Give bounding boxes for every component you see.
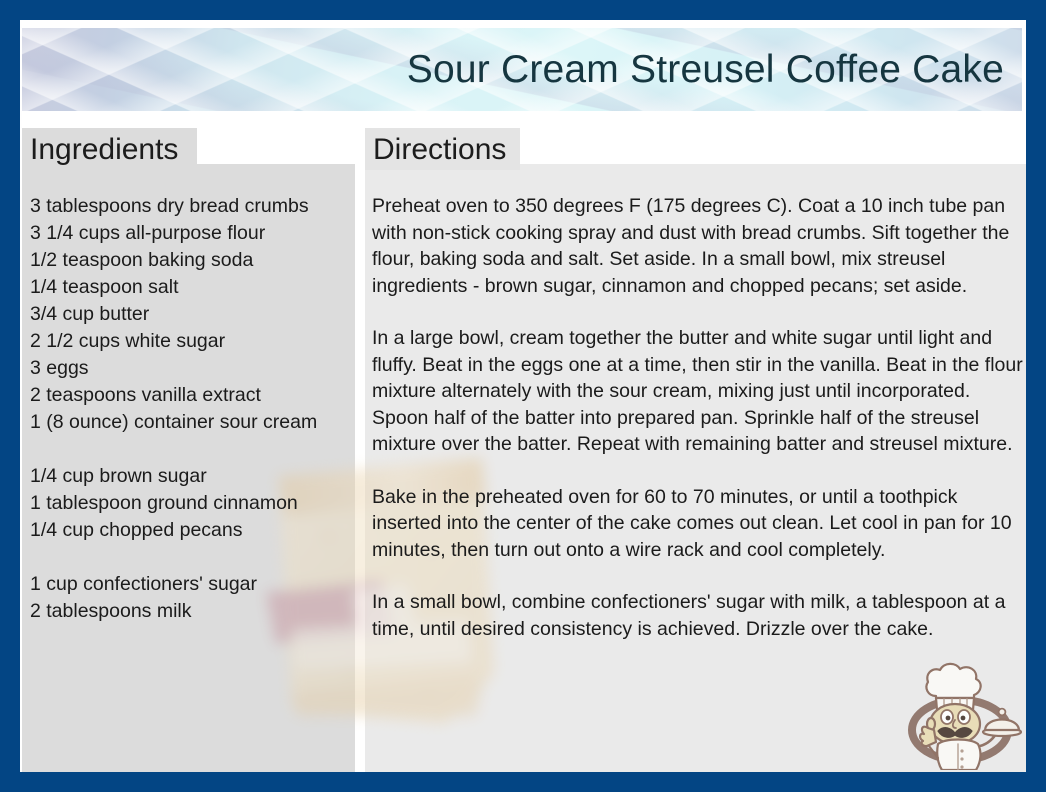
direction-paragraph: In a small bowl, combine confectioners' …: [372, 589, 1030, 642]
ingredient-item: 1/4 cup brown sugar: [30, 463, 360, 490]
ingredients-list: 3 tablespoons dry bread crumbs 3 1/4 cup…: [30, 193, 360, 625]
ingredient-item: 2 1/2 cups white sugar: [30, 328, 360, 355]
ingredient-item: 1 cup confectioners' sugar: [30, 571, 360, 598]
directions-heading: Directions: [373, 133, 506, 167]
ingredient-group: 1/4 cup brown sugar 1 tablespoon ground …: [30, 463, 360, 544]
ingredient-item: 1 tablespoon ground cinnamon: [30, 490, 360, 517]
ingredient-item: 3/4 cup butter: [30, 301, 360, 328]
direction-paragraph: Preheat oven to 350 degrees F (175 degre…: [372, 193, 1030, 299]
ingredients-heading: Ingredients: [30, 133, 178, 167]
ingredient-item: 2 teaspoons vanilla extract: [30, 382, 360, 409]
ingredient-item: 1/4 cup chopped pecans: [30, 517, 360, 544]
ingredient-item: 1 (8 ounce) container sour cream: [30, 409, 360, 436]
title-banner: Sour Cream Streusel Coffee Cake: [22, 28, 1022, 111]
ingredient-item: 2 tablespoons milk: [30, 598, 360, 625]
ingredient-group: 1 cup confectioners' sugar 2 tablespoons…: [30, 571, 360, 625]
recipe-card: Sour Cream Streusel Coffee Cake: [0, 0, 1046, 792]
page-title: Sour Cream Streusel Coffee Cake: [407, 48, 1004, 92]
ingredient-group: 3 tablespoons dry bread crumbs 3 1/4 cup…: [30, 193, 360, 436]
ingredient-item: 3 tablespoons dry bread crumbs: [30, 193, 360, 220]
direction-paragraph: Bake in the preheated oven for 60 to 70 …: [372, 484, 1030, 564]
direction-paragraph: In a large bowl, cream together the butt…: [372, 325, 1030, 458]
ingredient-item: 3 eggs: [30, 355, 360, 382]
ingredient-item: 1/2 teaspoon baking soda: [30, 247, 360, 274]
ingredient-item: 3 1/4 cups all-purpose flour: [30, 220, 360, 247]
directions-text: Preheat oven to 350 degrees F (175 degre…: [372, 193, 1030, 642]
ingredient-item: 1/4 teaspoon salt: [30, 274, 360, 301]
chef-mascot-logo: [898, 658, 1022, 770]
